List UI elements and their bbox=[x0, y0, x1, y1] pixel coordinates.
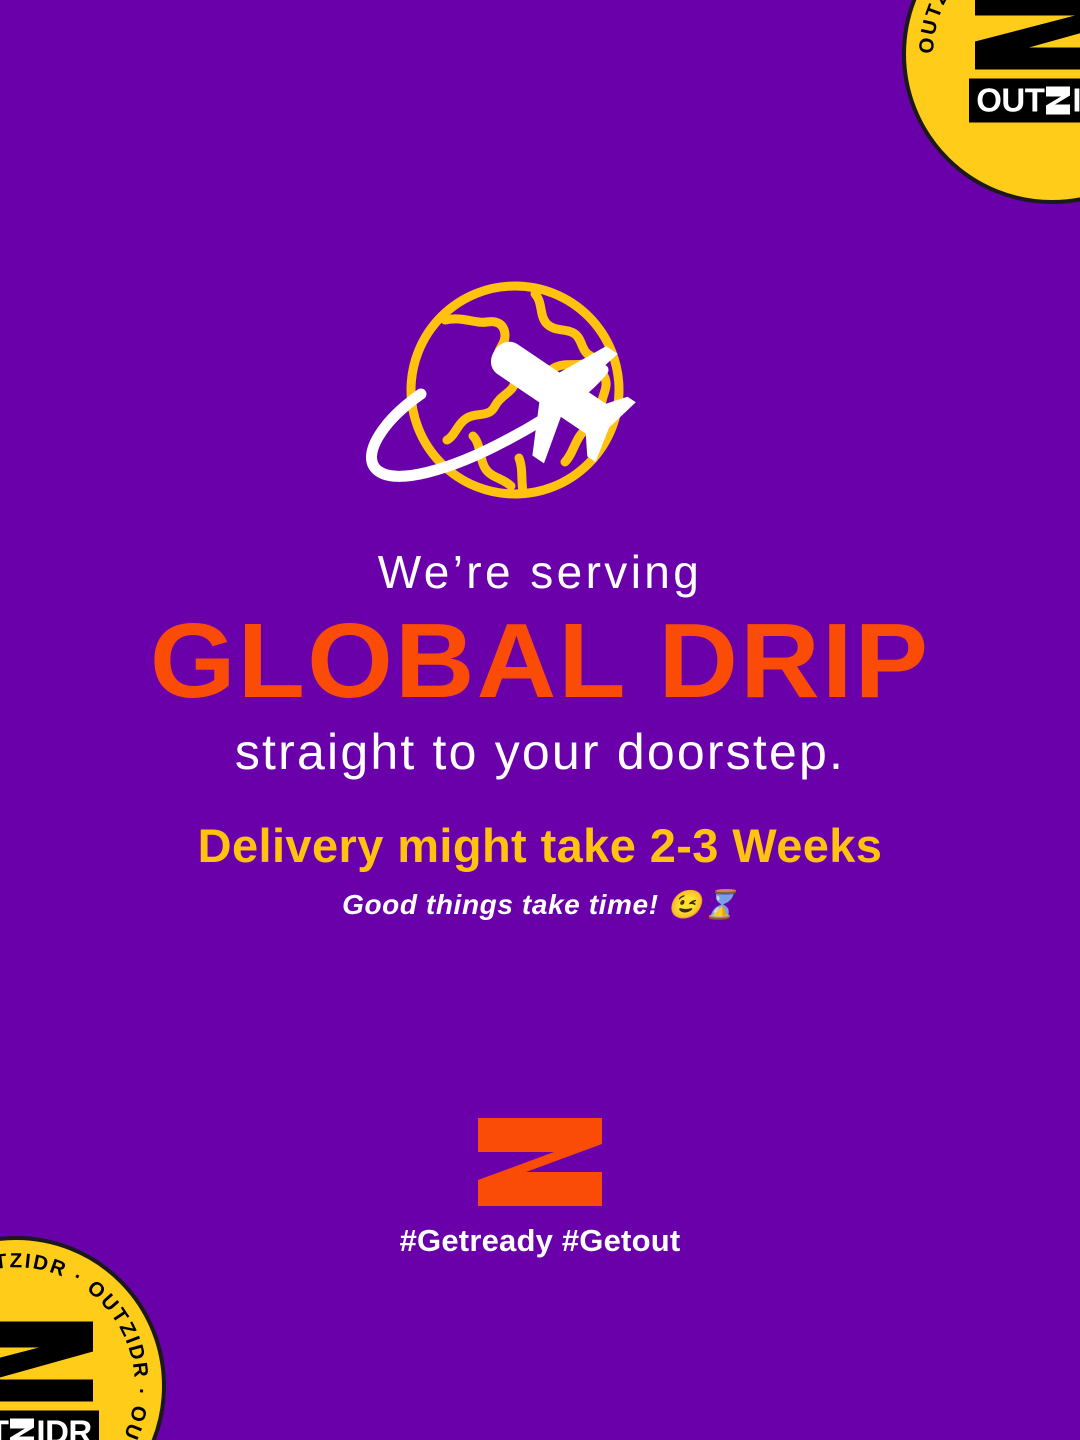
headline-line-doorstep: straight to your doorstep. bbox=[0, 725, 1080, 780]
badge-wordmark-left: OUT bbox=[976, 84, 1044, 117]
badge-z-mark-icon bbox=[0, 1318, 101, 1406]
outzidr-sticker-top-right: OUTZIDR · OUTZIDR · OUTZIDR · OUTZIDR · … bbox=[902, 0, 1080, 204]
delivery-note-block: Delivery might take 2-3 Weeks Good thing… bbox=[0, 820, 1080, 921]
badge-core-bottom-left: OUT IDR bbox=[0, 1318, 109, 1440]
badge-wordmark-bottom-left: OUT IDR bbox=[0, 1411, 99, 1440]
badge-wordmark-left: OUT bbox=[0, 1416, 8, 1440]
badge-z-mark-icon bbox=[967, 0, 1080, 74]
badge-wordmark-z-icon bbox=[1045, 85, 1071, 115]
outzidr-sticker-bottom-left: OUTZIDR · OUTZIDR · OUTZIDR · OUTZIDR · … bbox=[0, 1236, 166, 1440]
badge-core-top-right: OUT IDR bbox=[959, 0, 1080, 123]
headline-block: We’re serving GLOBAL DRIP straight to yo… bbox=[0, 548, 1080, 780]
footer-hashtags: #Getready #Getout bbox=[400, 1223, 681, 1259]
badge-wordmark-z-icon bbox=[9, 1417, 35, 1440]
poster-canvas: OUTZIDR · OUTZIDR · OUTZIDR · OUTZIDR · … bbox=[0, 0, 1080, 1440]
headline-line-global-drip: GLOBAL DRIP bbox=[0, 602, 1080, 721]
outzidr-z-logo-icon bbox=[478, 1118, 602, 1206]
badge-wordmark-right: IDR bbox=[36, 1416, 91, 1440]
headline-line-serving: We’re serving bbox=[0, 548, 1080, 596]
delivery-time-text: Delivery might take 2-3 Weeks bbox=[0, 820, 1080, 872]
delivery-subtext: Good things take time! 😉⌛ bbox=[0, 888, 1080, 922]
badge-wordmark-right: IDR bbox=[1072, 84, 1080, 117]
globe-airplane-illustration bbox=[355, 272, 715, 512]
footer-block: #Getready #Getout bbox=[0, 1118, 1080, 1259]
badge-wordmark-top-right: OUT IDR bbox=[969, 79, 1080, 123]
